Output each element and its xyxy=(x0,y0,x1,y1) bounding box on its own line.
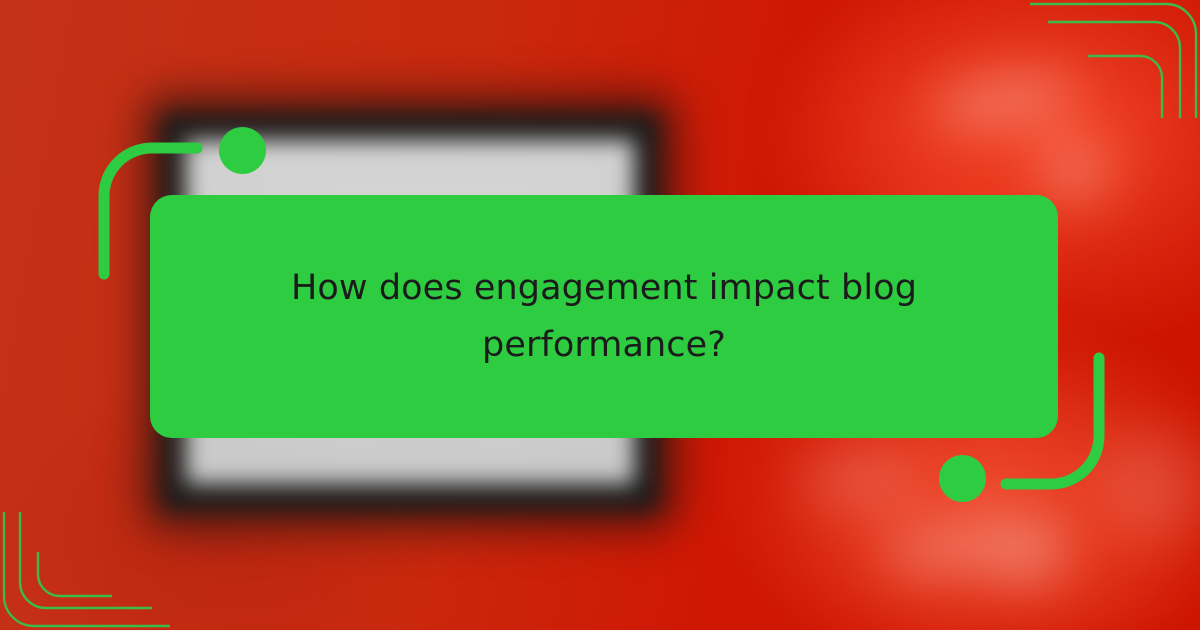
headline-card: How does engagement impact blog performa… xyxy=(150,195,1058,438)
background-highlight-2 xyxy=(1040,140,1110,200)
corner-lines-top-right xyxy=(990,0,1200,118)
social-card-canvas: How does engagement impact blog performa… xyxy=(0,0,1200,630)
accent-dot-bottom-right xyxy=(939,455,986,502)
background-highlight-6 xyxy=(1100,430,1200,540)
background-highlight-5 xyxy=(800,450,920,510)
background-highlight-4 xyxy=(995,540,1065,588)
accent-dot-top-left xyxy=(219,127,266,174)
corner-lines-bottom-left xyxy=(0,512,210,630)
page-title: How does engagement impact blog performa… xyxy=(284,260,924,373)
